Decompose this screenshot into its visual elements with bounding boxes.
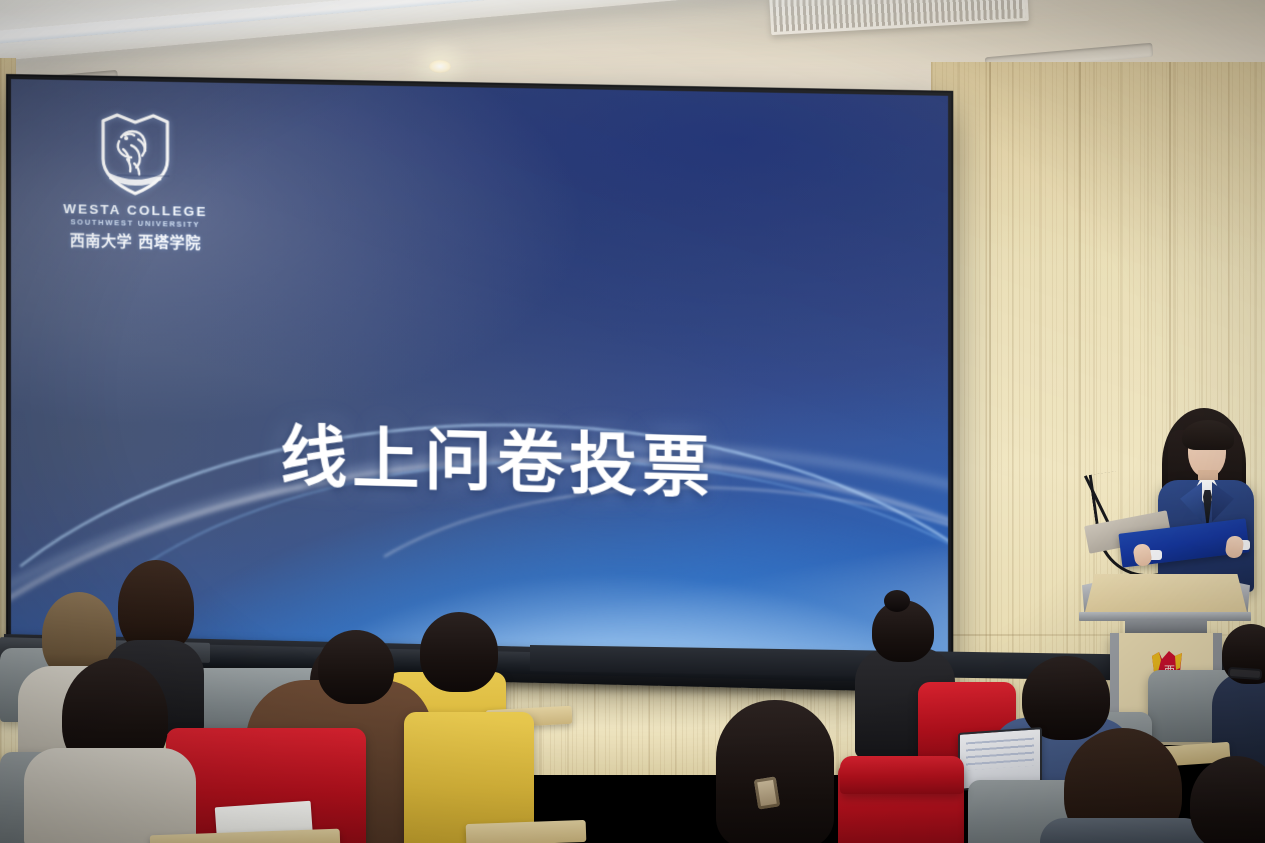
logo-line-en-secondary: SOUTHWEST UNIVERSITY (55, 217, 216, 229)
slide-logo: WESTA COLLEGE SOUTHWEST UNIVERSITY 西南大学 … (55, 110, 216, 254)
hair-clip-icon (754, 776, 780, 809)
torso (24, 748, 196, 843)
lecture-hall-scene: WESTA COLLEGE SOUTHWEST UNIVERSITY 西南大学 … (0, 0, 1265, 843)
logo-line-cn: 西南大学 西塔学院 (55, 229, 216, 253)
audience-head (716, 700, 834, 843)
glasses-icon (1228, 667, 1263, 680)
downlight-icon (429, 60, 451, 73)
presenter-hair-front (1182, 420, 1234, 450)
torso (1040, 818, 1208, 843)
audience-head (318, 630, 394, 704)
hair-bun (884, 590, 910, 612)
laptop-screen-content (966, 738, 1034, 771)
audience-head (1190, 756, 1265, 843)
audience (0, 560, 1265, 843)
audience-head (420, 612, 498, 692)
desk (466, 820, 587, 843)
slide-title: 线上问卷投票 (280, 403, 715, 511)
westa-college-shield-icon (95, 111, 175, 199)
seat[interactable] (840, 756, 964, 794)
